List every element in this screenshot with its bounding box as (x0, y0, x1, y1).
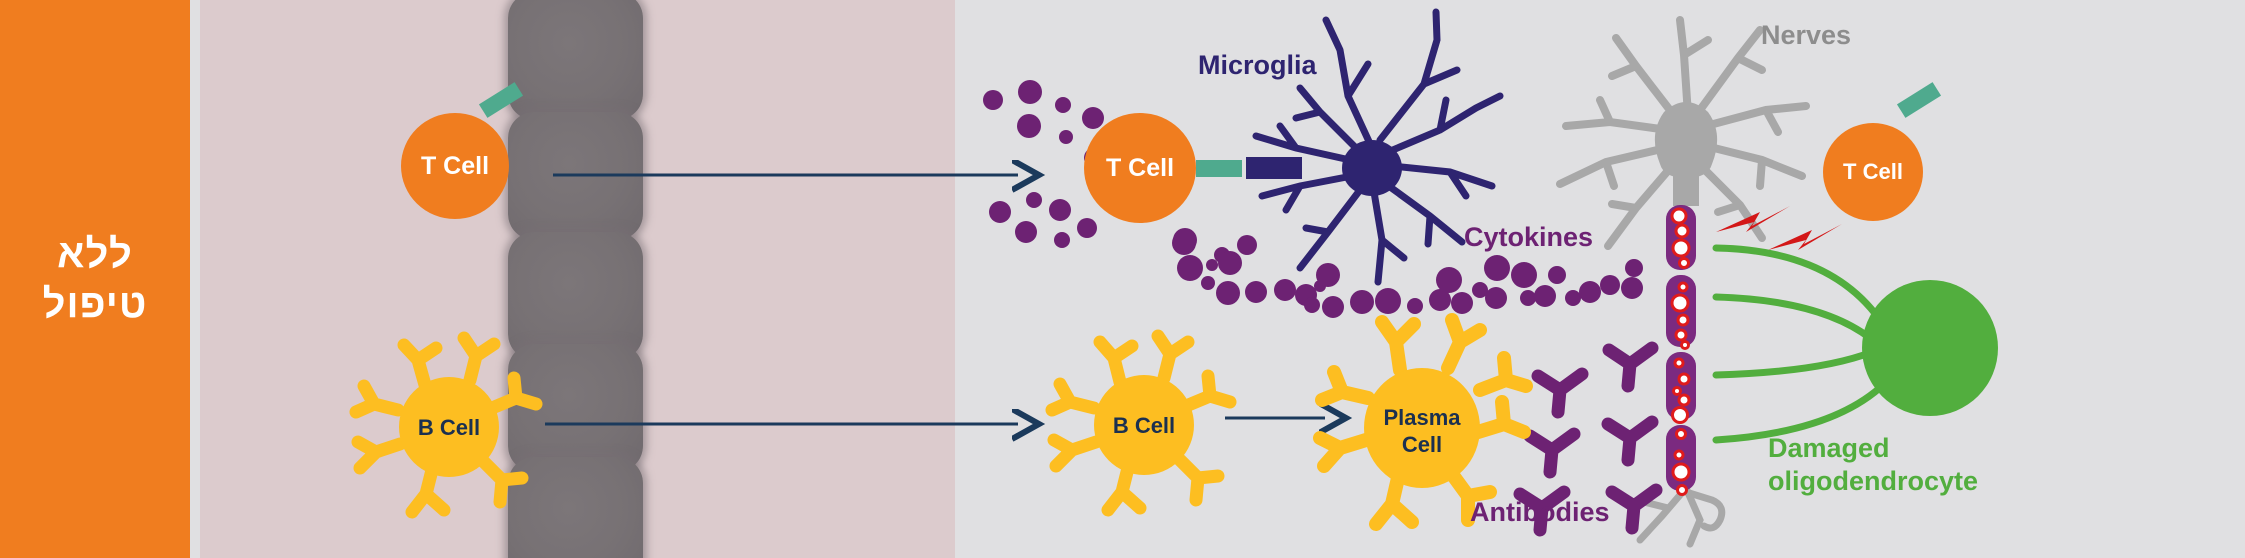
t-cell-cns-label: T Cell (1090, 154, 1190, 183)
axon-hillock (1673, 172, 1699, 206)
microglia-label: Microglia (1198, 50, 1317, 81)
lightning-bolts (1716, 206, 1842, 250)
ms-pathology-diagram: ללא טיפול (0, 0, 2245, 558)
antibodies-label: Antibodies (1470, 497, 1610, 528)
tcr-teal-bar (1196, 160, 1242, 177)
t-cell-periphery-label: T Cell (405, 152, 505, 181)
antibody-icon (1608, 422, 1652, 460)
tcr-receptor-icon (479, 82, 523, 118)
tcr-receptor-icon (1897, 82, 1941, 118)
plasma-cell-label-line1: Plasma (1372, 405, 1472, 431)
plasma-cell-label-line2: Cell (1372, 432, 1472, 458)
b-cell-periphery-label: B Cell (399, 415, 499, 441)
damaged-oligodendrocyte-label: Damaged oligodendrocyte (1768, 432, 1978, 498)
damaged-label-line2: oligodendrocyte (1768, 465, 1978, 498)
nerve-soma (1655, 102, 1717, 178)
antibody-icon (1609, 348, 1652, 386)
cytokines-label: Cytokines (1464, 222, 1593, 253)
antibody-icon (1612, 490, 1656, 528)
microglia-soma (1342, 140, 1402, 196)
mhc-purple-bar (1246, 157, 1302, 179)
t-cell-right-label: T Cell (1823, 159, 1923, 185)
oligodendrocyte-soma (1862, 280, 1998, 416)
b-cell-cns-label: B Cell (1094, 413, 1194, 439)
lightning-icon (1768, 224, 1842, 250)
nerves-label: Nerves (1761, 20, 1851, 51)
antibody-icon (1538, 374, 1582, 412)
damaged-label-line1: Damaged (1768, 432, 1978, 465)
antibody-icon (1530, 434, 1574, 472)
